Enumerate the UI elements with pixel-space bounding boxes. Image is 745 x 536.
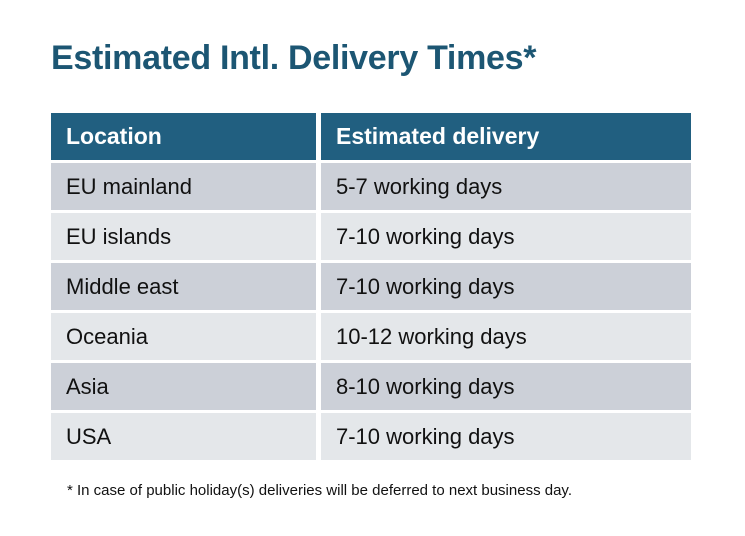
cell-estimated-delivery: 5-7 working days <box>321 163 691 210</box>
cell-estimated-delivery: 8-10 working days <box>321 363 691 410</box>
footnote: * In case of public holiday(s) deliverie… <box>67 481 572 501</box>
page-title: Estimated Intl. Delivery Times* <box>51 36 536 80</box>
column-header-estimated-delivery: Estimated delivery <box>321 113 691 160</box>
cell-estimated-delivery: 7-10 working days <box>321 413 691 460</box>
delivery-times-table: Location Estimated delivery EU mainland … <box>51 113 691 460</box>
table-header-row: Location Estimated delivery <box>51 113 691 160</box>
table-row: Oceania 10-12 working days <box>51 313 691 360</box>
table-row: Asia 8-10 working days <box>51 363 691 410</box>
cell-location: Oceania <box>51 313 316 360</box>
table-row: EU islands 7-10 working days <box>51 213 691 260</box>
cell-location: USA <box>51 413 316 460</box>
table-row: Middle east 7-10 working days <box>51 263 691 310</box>
table-row: USA 7-10 working days <box>51 413 691 460</box>
cell-location: Middle east <box>51 263 316 310</box>
cell-location: EU islands <box>51 213 316 260</box>
cell-location: EU mainland <box>51 163 316 210</box>
cell-estimated-delivery: 10-12 working days <box>321 313 691 360</box>
cell-location: Asia <box>51 363 316 410</box>
cell-estimated-delivery: 7-10 working days <box>321 263 691 310</box>
table-row: EU mainland 5-7 working days <box>51 163 691 210</box>
delivery-times-page: Estimated Intl. Delivery Times* Location… <box>0 0 745 536</box>
cell-estimated-delivery: 7-10 working days <box>321 213 691 260</box>
column-header-location: Location <box>51 113 316 160</box>
